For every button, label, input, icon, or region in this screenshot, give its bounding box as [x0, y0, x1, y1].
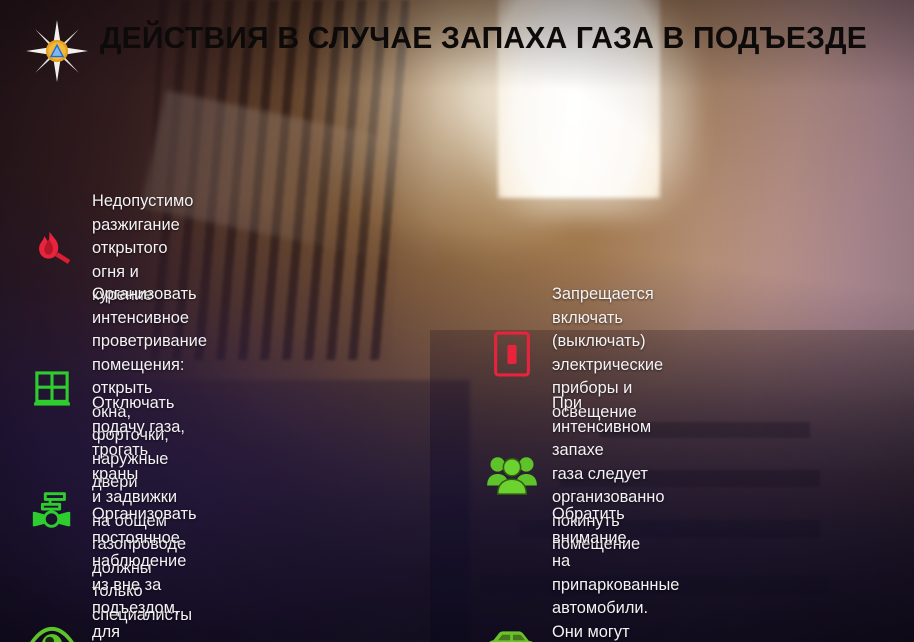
- list-item: Обратить внимание на припаркованные авто…: [484, 503, 679, 642]
- poster-header: ДЕЙСТВИЯ В СЛУЧАЕ ЗАПАХА ГАЗА В ПОДЪЕЗДЕ: [0, 0, 914, 84]
- match-flame-icon: [24, 221, 80, 277]
- eye-icon: [24, 616, 80, 642]
- car-icon: [484, 616, 540, 642]
- infographic-poster: ДЕЙСТВИЯ В СЛУЧАЕ ЗАПАХА ГАЗА В ПОДЪЕЗДЕ…: [0, 0, 914, 642]
- light-switch-icon: [484, 326, 540, 382]
- list-item: Организовать постоянное наблюдение из вн…: [24, 503, 197, 642]
- list-item-label: Организовать постоянное наблюдение из вн…: [92, 503, 197, 642]
- list-item-label: Обратить внимание на припаркованные авто…: [552, 503, 679, 642]
- emercom-star-logo: [26, 20, 88, 82]
- people-group-icon: [484, 446, 540, 502]
- page-title: ДЕЙСТВИЯ В СЛУЧАЕ ЗАПАХА ГАЗА В ПОДЪЕЗДЕ: [100, 22, 888, 56]
